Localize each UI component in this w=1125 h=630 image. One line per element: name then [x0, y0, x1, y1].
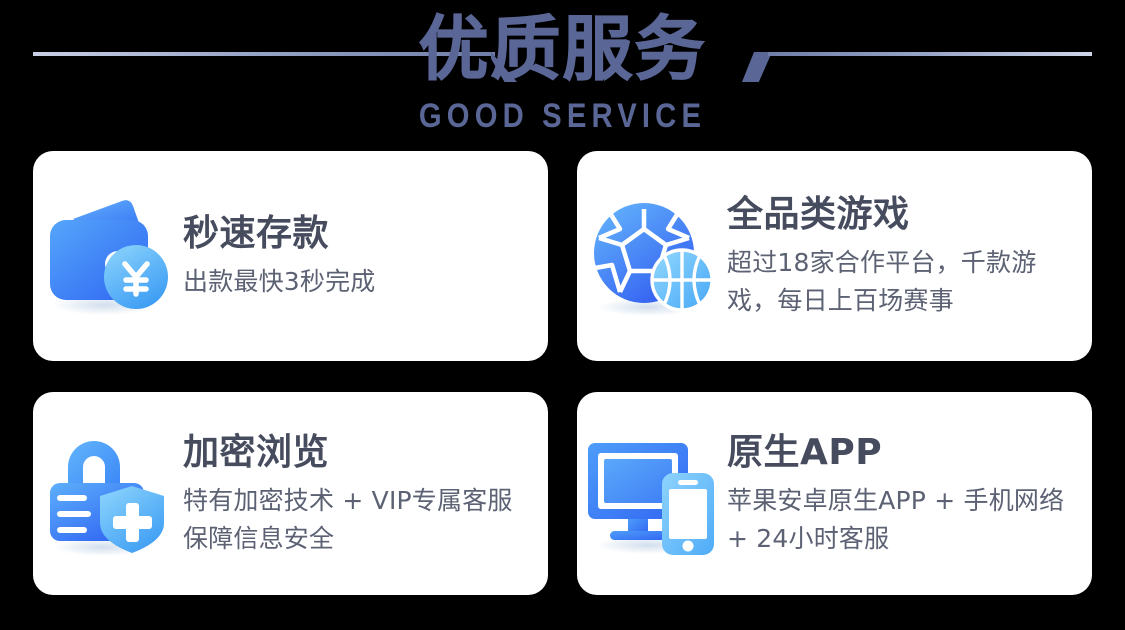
service-card-subtitle: 特有加密技术 + VIP专属客服保障信息安全 — [183, 482, 534, 558]
service-card-subtitle: 苹果安卓原生APP + 手机网络 + 24小时客服 — [727, 482, 1078, 558]
wallet-yen-icon — [33, 151, 183, 361]
service-card-title: 加密浏览 — [183, 430, 534, 476]
service-card-text: 加密浏览 特有加密技术 + VIP专属客服保障信息安全 — [183, 430, 548, 558]
service-card-games[interactable]: 全品类游戏 超过18家合作平台，千款游戏，每日上百场赛事 — [577, 151, 1092, 361]
wallet-yen-icon-svg — [42, 193, 174, 319]
soccer-basketball-icon — [577, 151, 727, 361]
service-card-text: 全品类游戏 超过18家合作平台，千款游戏，每日上百场赛事 — [727, 192, 1092, 320]
service-card-grid: 秒速存款 出款最快3秒完成 — [33, 151, 1092, 595]
lock-shield-icon — [33, 392, 183, 595]
service-card-text: 原生APP 苹果安卓原生APP + 手机网络 + 24小时客服 — [727, 430, 1092, 558]
monitor-phone-icon-svg — [584, 433, 720, 555]
lock-shield-icon-svg — [42, 431, 174, 557]
service-card-subtitle: 出款最快3秒完成 — [183, 263, 376, 301]
page-header: 优质服务 GOOD SERVICE — [0, 0, 1125, 150]
page-subtitle: GOOD SERVICE — [79, 96, 1047, 136]
monitor-phone-icon — [577, 392, 727, 595]
service-card-title: 全品类游戏 — [727, 192, 1078, 238]
service-card-native-app[interactable]: 原生APP 苹果安卓原生APP + 手机网络 + 24小时客服 — [577, 392, 1092, 595]
service-card-title: 秒速存款 — [183, 211, 376, 257]
soccer-basketball-icon-svg — [586, 193, 718, 319]
page-title: 优质服务 — [0, 6, 1125, 92]
service-card-title: 原生APP — [727, 430, 1078, 476]
service-card-deposit[interactable]: 秒速存款 出款最快3秒完成 — [33, 151, 548, 361]
service-card-text: 秒速存款 出款最快3秒完成 — [183, 211, 390, 301]
service-card-encryption[interactable]: 加密浏览 特有加密技术 + VIP专属客服保障信息安全 — [33, 392, 548, 595]
service-card-subtitle: 超过18家合作平台，千款游戏，每日上百场赛事 — [727, 244, 1078, 320]
